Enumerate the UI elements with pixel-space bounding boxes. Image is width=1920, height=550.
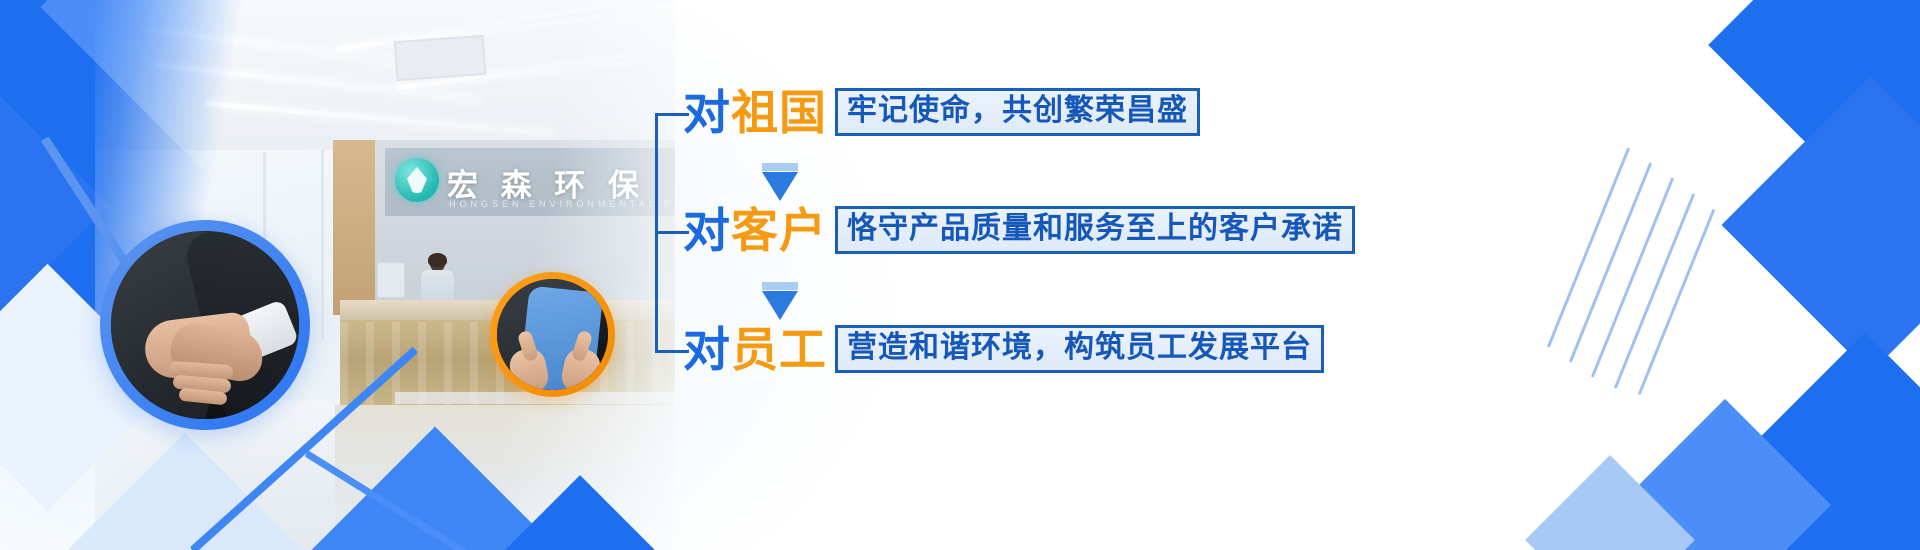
commitment-row-customer: 对客户 恪守产品质量和服务至上的客户承诺 — [683, 206, 1355, 254]
company-values-banner: 宏 森 环 保 HONGSEN ENVIRONMENTAL PROTECTION — [0, 0, 1920, 550]
glass-mullion — [321, 150, 324, 340]
commitment-row-country: 对祖国 牢记使命，共创繁荣昌盛 — [683, 88, 1200, 136]
ceiling-vent — [394, 35, 487, 81]
receptionist — [420, 255, 454, 303]
handshake-photo-medallion — [100, 220, 310, 430]
company-name-latin: HONGSEN ENVIRONMENTAL PROTECTION — [449, 199, 675, 209]
heading-prefix: 对 — [683, 86, 731, 139]
heading-prefix: 对 — [683, 323, 731, 376]
heading-target: 员工 — [731, 323, 827, 376]
thumbs-up-photo — [497, 279, 608, 390]
commitment-heading-country: 对祖国 — [683, 89, 827, 136]
commitment-statement-customer: 恪守产品质量和服务至上的客户承诺 — [835, 206, 1355, 254]
globe-leaf-logo-icon — [395, 158, 439, 202]
commitment-statement-employee: 营造和谐环境，构筑员工发展平台 — [835, 325, 1324, 373]
arrow-cap — [762, 163, 798, 171]
receptionist-body — [421, 270, 454, 303]
arrow-triangle — [762, 172, 798, 201]
commitment-heading-customer: 对客户 — [683, 207, 827, 254]
thumbs-up-photo-medallion — [490, 272, 615, 397]
wood-column — [333, 140, 375, 315]
handshake-photo — [111, 231, 299, 419]
commitment-row-employee: 对员工 营造和谐环境，构筑员工发展平台 — [683, 325, 1324, 373]
commitment-statement-country: 牢记使命，共创繁荣昌盛 — [835, 88, 1200, 136]
commitments-block: 对祖国 牢记使命，共创繁荣昌盛 对客户 恪守产品质量和服务至上的客户承诺 对员工… — [655, 0, 1375, 550]
heading-prefix: 对 — [683, 204, 731, 257]
desk-monitor — [377, 262, 405, 298]
heading-target: 祖国 — [731, 86, 827, 139]
arrow-triangle — [762, 291, 798, 320]
arrow-cap — [762, 282, 798, 290]
commitment-heading-employee: 对员工 — [683, 326, 827, 373]
receptionist-hair — [428, 253, 447, 267]
heading-target: 客户 — [731, 204, 827, 257]
